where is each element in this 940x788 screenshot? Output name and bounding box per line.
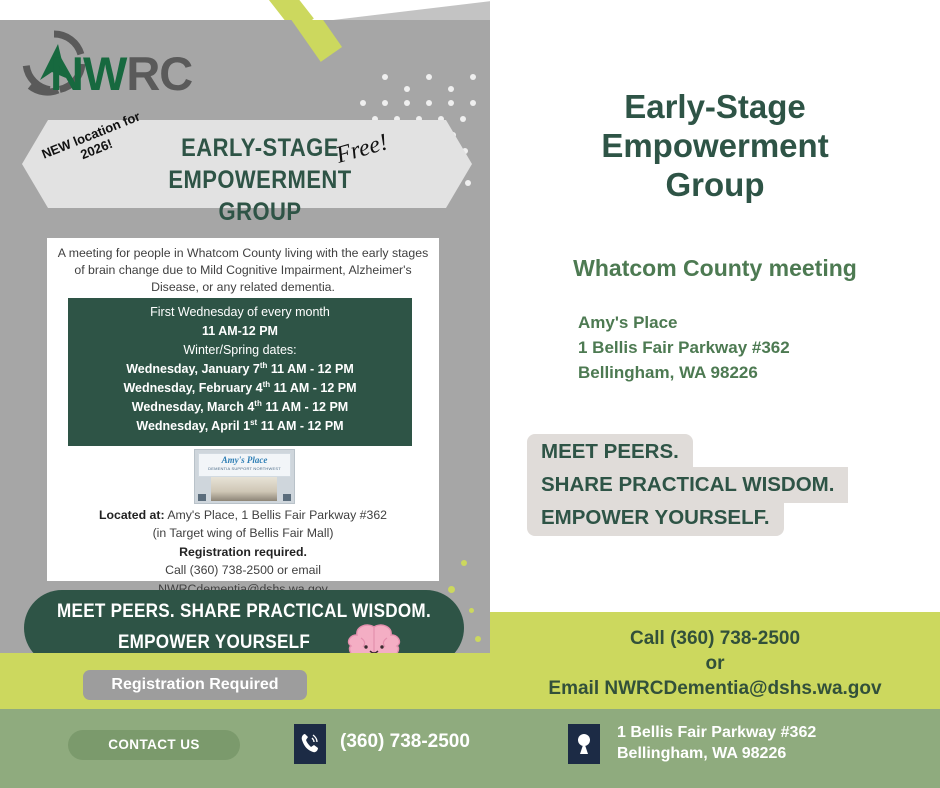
call-line-2: or: [490, 651, 940, 676]
highlight-line-3: EMPOWER YOURSELF.: [527, 500, 784, 536]
flyer-page: NWRC EARLY-STAGE EMPOWERMENT GROUP NEW l…: [0, 0, 940, 788]
call-line-1: Call (360) 738-2500: [490, 626, 940, 651]
flyer-content-card: A meeting for people in Whatcom County l…: [47, 238, 439, 581]
photo-detail-left: [198, 494, 206, 501]
logo-wordmark: NWRC: [50, 50, 192, 97]
schedule-date-time: 11 AM - 12 PM: [267, 362, 353, 376]
contact-us-label: CONTACT US: [68, 730, 240, 760]
flyer-registration-required: Registration required.: [55, 543, 431, 561]
flyer-intro-text: A meeting for people in Whatcom County l…: [55, 245, 431, 296]
located-at-value: Amy's Place, 1 Bellis Fair Parkway #362: [165, 508, 387, 522]
venue-city: Bellingham, WA 98226: [578, 360, 790, 385]
call-line-3[interactable]: Email NWRCDementia@dshs.wa.gov: [490, 676, 940, 701]
venue-street: 1 Bellis Fair Parkway #362: [578, 335, 790, 360]
nwrc-logo: NWRC: [8, 28, 178, 106]
footer-address-line2: Bellingham, WA 98226: [617, 743, 816, 764]
schedule-date-row: Wednesday, February 4th 11 AM - 12 PM: [68, 379, 412, 398]
flyer-title-line2: EMPOWERMENT GROUP: [137, 164, 383, 228]
highlight-line-2: SHARE PRACTICAL WISDOM.: [527, 467, 848, 503]
right-panel: Early-Stage Empowerment Group Whatcom Co…: [490, 0, 940, 705]
schedule-date-row: Wednesday, March 4th 11 AM - 12 PM: [68, 398, 412, 417]
footer-accent-line: [0, 705, 940, 709]
call-band: Call (360) 738-2500 or Email NWRCDementi…: [490, 612, 940, 705]
page-subtitle: Whatcom County meeting: [510, 255, 920, 282]
schedule-date-ordinal: th: [254, 399, 262, 408]
photo-detail-right: [283, 494, 291, 501]
schedule-date-time: 11 AM - 12 PM: [257, 420, 343, 434]
map-pin-icon: [568, 724, 600, 764]
schedule-date-day: Wednesday, April 1: [136, 420, 250, 434]
schedule-time: 11 AM-12 PM: [68, 322, 412, 341]
located-at-label: Located at:: [99, 508, 165, 522]
photo-sign-name: Amy's Place: [199, 455, 290, 465]
page-title-line2: Empowerment: [510, 127, 920, 166]
schedule-date-day: Wednesday, February 4: [123, 381, 262, 395]
contact-us-button[interactable]: CONTACT US: [68, 730, 240, 760]
venue-name: Amy's Place: [578, 310, 790, 335]
footer-address-line1: 1 Bellis Fair Parkway #362: [617, 722, 816, 743]
schedule-frequency: First Wednesday of every month: [68, 303, 412, 322]
schedule-date-day: Wednesday, March 4: [132, 400, 255, 414]
page-title: Early-Stage Empowerment Group: [510, 88, 920, 205]
flyer-location-note: (in Target wing of Bellis Fair Mall): [55, 524, 431, 542]
footer-address: 1 Bellis Fair Parkway #362 Bellingham, W…: [617, 722, 816, 765]
photo-doorway: [211, 477, 277, 501]
registration-required-badge: Registration Required: [83, 670, 307, 700]
page-title-line1: Early-Stage: [510, 88, 920, 127]
registration-badge-label: Registration Required: [83, 670, 307, 700]
phone-ringing-icon: [294, 724, 326, 764]
schedule-dates-label: Winter/Spring dates:: [68, 341, 412, 360]
footer-phone-number[interactable]: (360) 738-2500: [340, 731, 470, 753]
flyer-located-at: Located at: Amy's Place, 1 Bellis Fair P…: [55, 506, 431, 524]
photo-signboard: Amy's Place DEMENTIA SUPPORT NORTHWEST: [198, 453, 291, 477]
flyer-card: NWRC EARLY-STAGE EMPOWERMENT GROUP NEW l…: [0, 20, 490, 665]
schedule-date-time: 11 AM - 12 PM: [270, 381, 356, 395]
venue-address: Amy's Place 1 Bellis Fair Parkway #362 B…: [578, 310, 790, 385]
amys-place-photo: Amy's Place DEMENTIA SUPPORT NORTHWEST: [194, 449, 295, 504]
decor-flyer-ribbon: [276, 20, 342, 62]
page-title-line3: Group: [510, 166, 920, 205]
schedule-date-day: Wednesday, January 7: [126, 362, 260, 376]
schedule-date-row: Wednesday, April 1st 11 AM - 12 PM: [68, 417, 412, 436]
logo-nw: NW: [50, 47, 126, 100]
logo-rc: RC: [126, 47, 192, 100]
schedule-box: First Wednesday of every month 11 AM-12 …: [68, 298, 412, 446]
flyer-location-block: Located at: Amy's Place, 1 Bellis Fair P…: [55, 506, 431, 598]
schedule-date-row: Wednesday, January 7th 11 AM - 12 PM: [68, 360, 412, 379]
schedule-date-time: 11 AM - 12 PM: [262, 400, 348, 414]
flyer-call-line: Call (360) 738-2500 or email: [55, 561, 431, 579]
highlight-line-1: MEET PEERS.: [527, 434, 693, 470]
flyer-slogan-line2: EMPOWER YOURSELF: [43, 632, 385, 654]
photo-sign-subtitle: DEMENTIA SUPPORT NORTHWEST: [199, 466, 290, 471]
call-band-text: Call (360) 738-2500 or Email NWRCDementi…: [490, 626, 940, 701]
